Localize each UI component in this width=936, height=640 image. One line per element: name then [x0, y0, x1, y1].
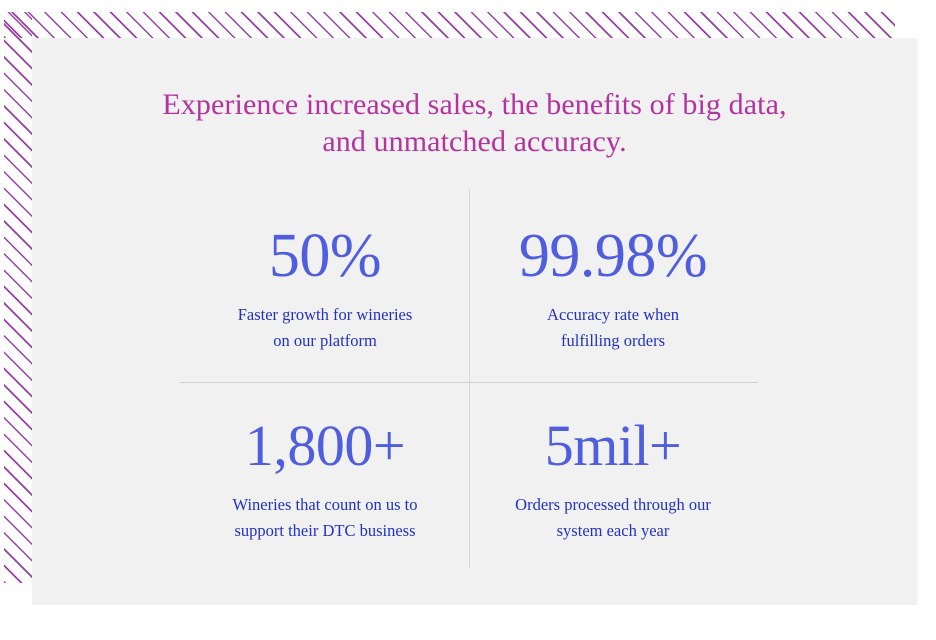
stat-caption-line-1: Accuracy rate when — [433, 302, 793, 328]
page-title-line-2: and unmatched accuracy. — [32, 123, 917, 160]
stats-card: Experience increased sales, the benefits… — [32, 38, 917, 605]
stat-caption-line-1: Orders processed through our — [433, 492, 793, 518]
stat-caption: Orders processed through our system each… — [433, 492, 793, 544]
page-title: Experience increased sales, the benefits… — [32, 86, 917, 160]
stat-item-orders-processed: 5mil+ Orders processed through our syste… — [433, 411, 793, 544]
stat-caption-line-2: fulfilling orders — [433, 328, 793, 354]
stat-item-accuracy-rate: 99.98% Accuracy rate when fulfilling ord… — [433, 221, 793, 354]
stat-value: 99.98% — [433, 221, 793, 291]
page-title-line-1: Experience increased sales, the benefits… — [32, 86, 917, 123]
page-stage: Experience increased sales, the benefits… — [0, 0, 936, 640]
stat-caption-line-2: system each year — [433, 518, 793, 544]
diagonal-stripe-pattern-top — [4, 12, 895, 38]
stat-value: 5mil+ — [433, 411, 793, 481]
stats-grid: 50% Faster growth for wineries on our pl… — [32, 189, 917, 589]
diagonal-stripe-pattern-left — [4, 12, 32, 583]
stat-caption: Accuracy rate when fulfilling orders — [433, 302, 793, 354]
